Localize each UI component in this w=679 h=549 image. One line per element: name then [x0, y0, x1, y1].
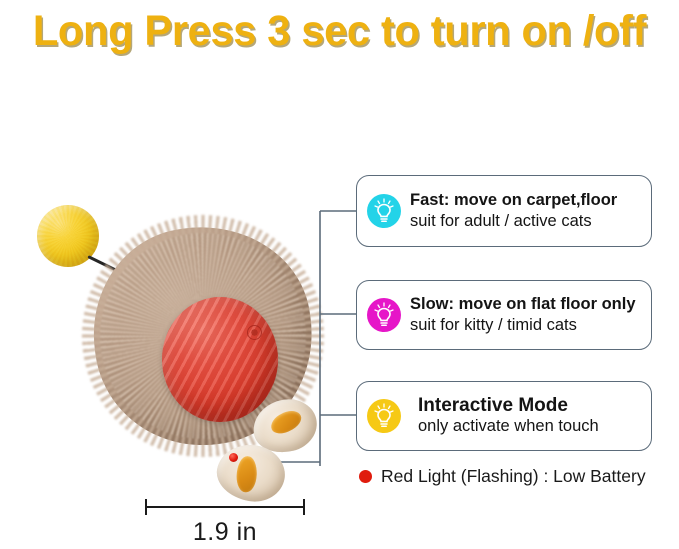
battery-note: Red Light (Flashing) : Low Battery	[359, 466, 646, 487]
callout-interactive[interactable]: Interactive Mode only activate when touc…	[356, 381, 652, 451]
callout-interactive-line1: Interactive Mode	[418, 395, 643, 416]
red-led-indicator	[229, 453, 238, 462]
dimension-cap-left	[145, 499, 147, 515]
ball-logo-icon	[247, 325, 262, 340]
paw-pad	[236, 456, 257, 493]
lightbulb-icon-magenta	[367, 298, 401, 332]
callout-fast-line2: suit for adult / active cats	[410, 211, 643, 232]
battery-note-text: Red Light (Flashing) : Low Battery	[381, 466, 646, 487]
dimension-line	[145, 498, 305, 516]
callout-slow-line2: suit for kitty / timid cats	[410, 315, 643, 336]
callout-slow-line1: Slow: move on flat floor only	[410, 294, 643, 315]
callout-interactive-line2: only activate when touch	[418, 416, 643, 437]
callout-slow[interactable]: Slow: move on flat floor only suit for k…	[356, 280, 652, 350]
lightbulb-icon-cyan	[367, 194, 401, 228]
red-dot-icon	[359, 470, 372, 483]
callout-fast-text: Fast: move on carpet,floor suit for adul…	[408, 190, 643, 232]
lightbulb-icon-yellow	[367, 399, 401, 433]
dimension-label: 1.9 in	[145, 518, 305, 547]
dimension-cap-right	[303, 499, 305, 515]
callout-fast[interactable]: Fast: move on carpet,floor suit for adul…	[356, 175, 652, 247]
page-title: Long Press 3 sec to turn on /off	[10, 0, 669, 62]
callout-interactive-text: Interactive Mode only activate when touc…	[408, 395, 643, 437]
product-photo	[10, 195, 330, 505]
infographic-page: Long Press 3 sec to turn on /off 1.9 in	[0, 0, 679, 549]
callout-fast-line1: Fast: move on carpet,floor	[410, 190, 643, 211]
dimension-line-bar	[145, 506, 305, 508]
callout-slow-text: Slow: move on flat floor only suit for k…	[408, 294, 643, 336]
red-rolling-ball	[162, 297, 278, 422]
